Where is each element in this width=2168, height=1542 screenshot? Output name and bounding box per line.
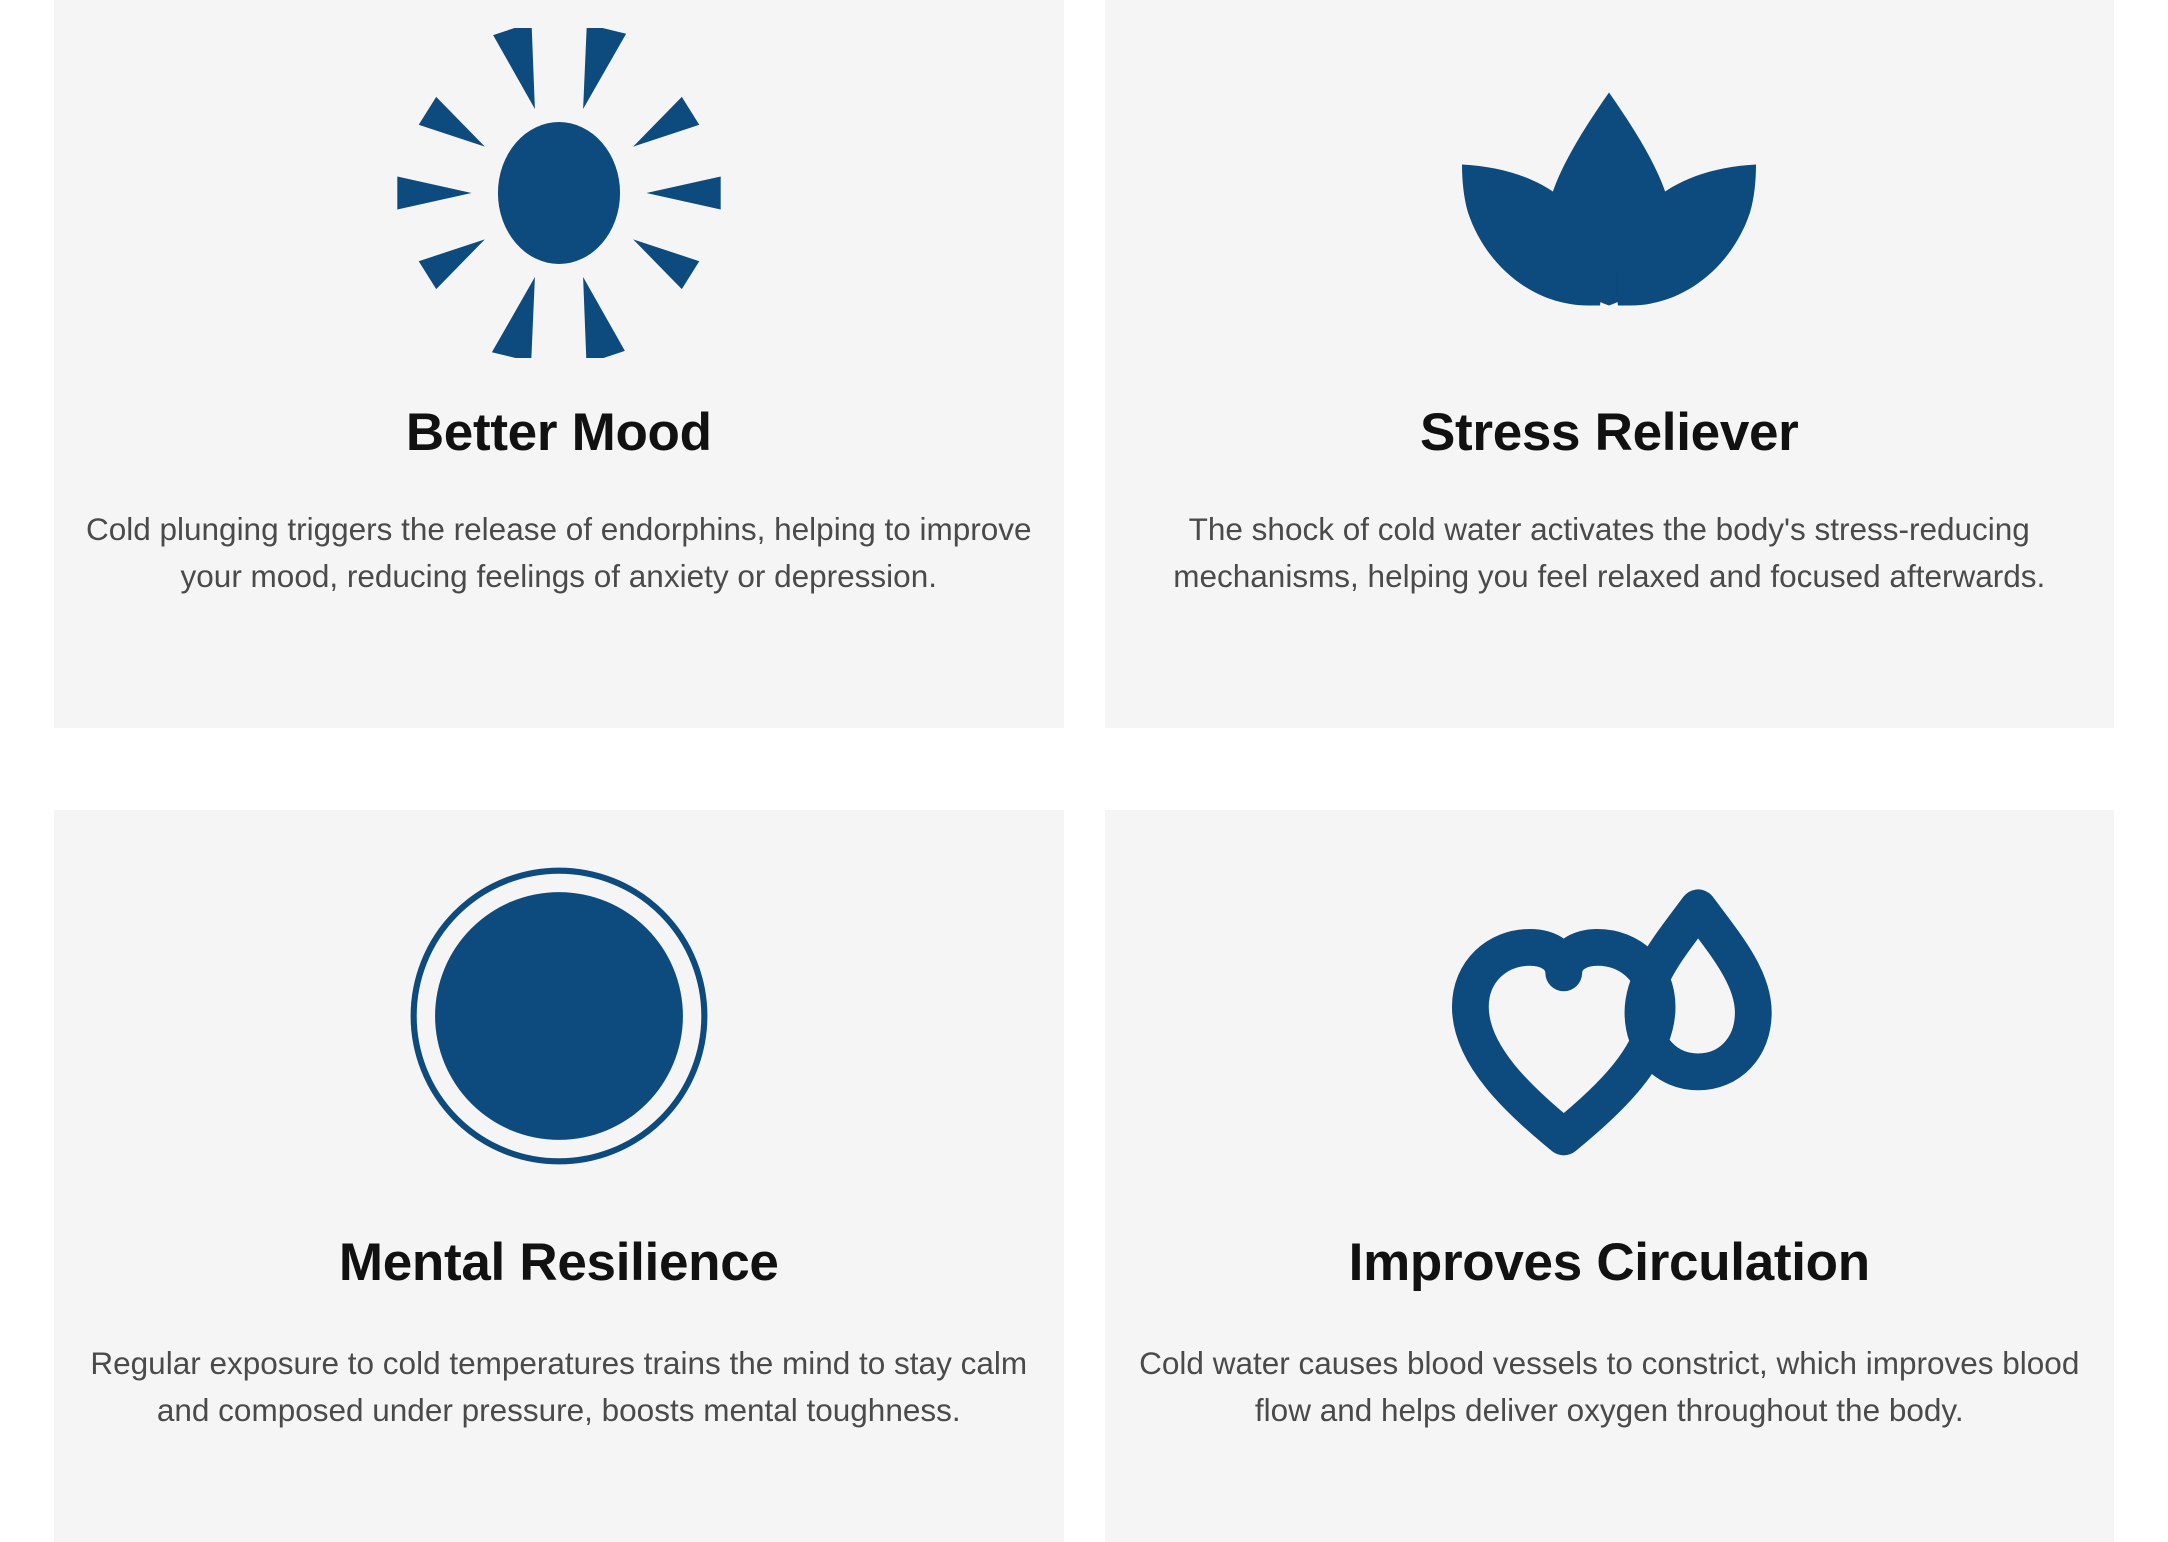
heart-waterdrop-icon bbox=[1123, 810, 2097, 1192]
card-title: Better Mood bbox=[406, 404, 712, 462]
card-title: Mental Resilience bbox=[339, 1234, 779, 1292]
card-description-wrap: The shock of cold water activates the bo… bbox=[1129, 506, 2089, 599]
card-title-wrap: Stress Reliever bbox=[1420, 404, 1799, 462]
card-title: Stress Reliever bbox=[1420, 404, 1799, 462]
lotus-flower-icon bbox=[1123, 0, 2097, 368]
card-title-wrap: Better Mood bbox=[406, 404, 712, 462]
benefit-card-stress-reliever[interactable]: Stress Reliever The shock of cold water … bbox=[1105, 0, 2115, 728]
benefit-card-better-mood[interactable]: Better Mood Cold plunging triggers the r… bbox=[54, 0, 1064, 728]
benefit-card-improves-circulation[interactable]: Improves Circulation Cold water causes b… bbox=[1105, 810, 2115, 1542]
benefits-grid: Better Mood Cold plunging triggers the r… bbox=[0, 0, 2168, 1542]
card-title-wrap: Mental Resilience bbox=[339, 1228, 779, 1292]
sun-icon bbox=[72, 0, 1046, 368]
card-description: The shock of cold water activates the bo… bbox=[1129, 506, 2089, 599]
card-description: Cold plunging triggers the release of en… bbox=[79, 506, 1039, 599]
card-description-wrap: Cold plunging triggers the release of en… bbox=[79, 506, 1039, 599]
benefit-card-mental-resilience[interactable]: Mental Resilience Regular exposure to co… bbox=[54, 810, 1064, 1542]
card-title: Improves Circulation bbox=[1349, 1234, 1870, 1292]
card-description-wrap: Cold water causes blood vessels to const… bbox=[1129, 1340, 2089, 1433]
card-description: Regular exposure to cold temperatures tr… bbox=[79, 1340, 1039, 1433]
card-description-wrap: Regular exposure to cold temperatures tr… bbox=[79, 1340, 1039, 1433]
card-title-wrap: Improves Circulation bbox=[1349, 1228, 1870, 1292]
circle-ring-icon bbox=[72, 810, 1046, 1192]
card-description: Cold water causes blood vessels to const… bbox=[1129, 1340, 2089, 1433]
